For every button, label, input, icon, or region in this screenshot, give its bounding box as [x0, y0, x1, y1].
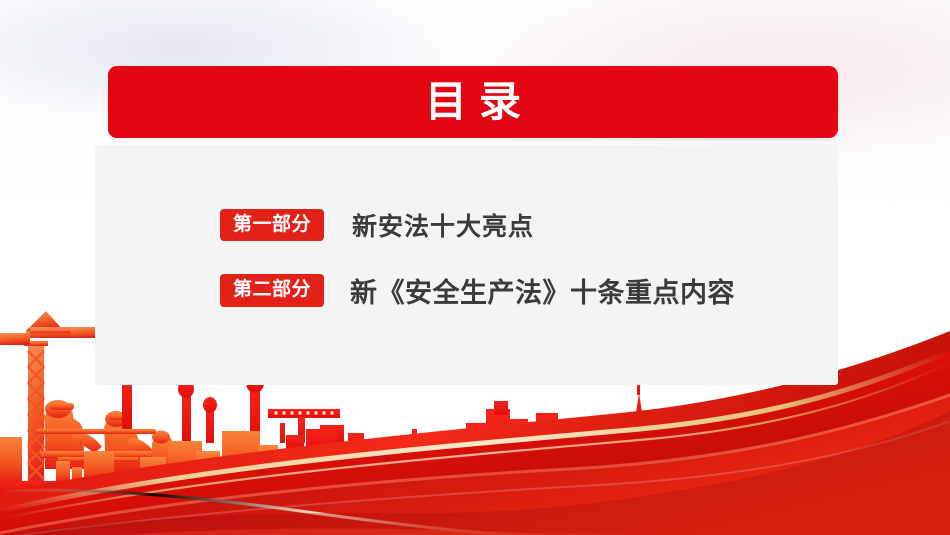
slide-canvas: 目录 第一部分 新安法十大亮点 第二部分 新《安全生产法》十条重点内容 [0, 0, 950, 535]
toc-list: 第一部分 新安法十大亮点 第二部分 新《安全生产法》十条重点内容 [220, 207, 735, 310]
page-title: 目录 [413, 81, 533, 123]
toc-badge-part-2: 第二部分 [220, 274, 324, 307]
content-panel: 第一部分 新安法十大亮点 第二部分 新《安全生产法》十条重点内容 [95, 145, 838, 385]
toc-badge-part-1: 第一部分 [220, 209, 324, 242]
toc-label-part-1: 新安法十大亮点 [352, 207, 534, 243]
toc-item-2[interactable]: 第二部分 新《安全生产法》十条重点内容 [220, 271, 735, 310]
slide-title-bar: 目录 [108, 66, 838, 138]
toc-label-part-2: 新《安全生产法》十条重点内容 [350, 271, 735, 310]
toc-item-1[interactable]: 第一部分 新安法十大亮点 [220, 207, 735, 243]
